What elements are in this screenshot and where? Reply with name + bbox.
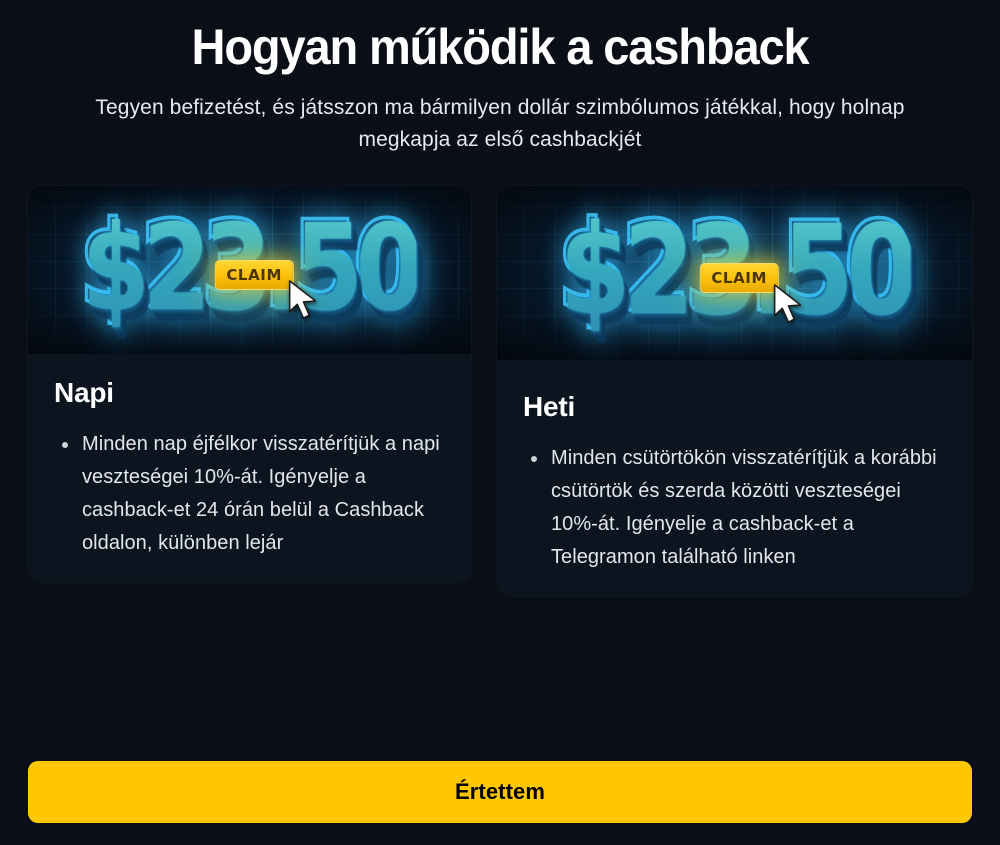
list-item: Minden csütörtökön visszatérítjük a korá… xyxy=(523,442,946,574)
claim-chip: CLAIM xyxy=(700,264,778,292)
weekly-card-body: Heti Minden csütörtökön visszatérítjük a… xyxy=(497,360,972,574)
card-title: Napi xyxy=(54,376,445,410)
daily-bullet-list: Minden nap éjfélkor visszatérítjük a nap… xyxy=(54,428,445,560)
confirm-button[interactable]: Értettem xyxy=(28,761,972,823)
modal-footer: Értettem xyxy=(28,761,972,823)
weekly-cashback-banner-image: $23.50 $23.50 CLAIM xyxy=(497,186,972,360)
cashback-card-daily: $23.50 $23.50 CLAIM Napi Minden nap éjfé… xyxy=(28,186,471,582)
page-title: Hogyan működik a cashback xyxy=(56,16,943,78)
cashback-card-weekly: $23.50 $23.50 CLAIM Heti Minden csütörtö… xyxy=(497,186,972,596)
cursor-arrow-icon xyxy=(286,280,320,320)
card-title: Heti xyxy=(523,390,946,424)
claim-chip: CLAIM xyxy=(215,261,293,289)
daily-cashback-banner-image: $23.50 $23.50 CLAIM xyxy=(28,186,471,354)
cashback-cards-row: $23.50 $23.50 CLAIM Napi Minden nap éjfé… xyxy=(28,186,972,596)
list-item: Minden nap éjfélkor visszatérítjük a nap… xyxy=(54,428,445,560)
modal-header: Hogyan működik a cashback Tegyen befizet… xyxy=(28,0,972,156)
cashback-info-modal: Hogyan működik a cashback Tegyen befizet… xyxy=(0,0,1000,845)
cursor-arrow-icon xyxy=(771,284,805,324)
page-subtitle: Tegyen befizetést, és játsszon ma bármil… xyxy=(70,92,930,156)
daily-card-body: Napi Minden nap éjfélkor visszatérítjük … xyxy=(28,354,471,560)
weekly-bullet-list: Minden csütörtökön visszatérítjük a korá… xyxy=(523,442,946,574)
